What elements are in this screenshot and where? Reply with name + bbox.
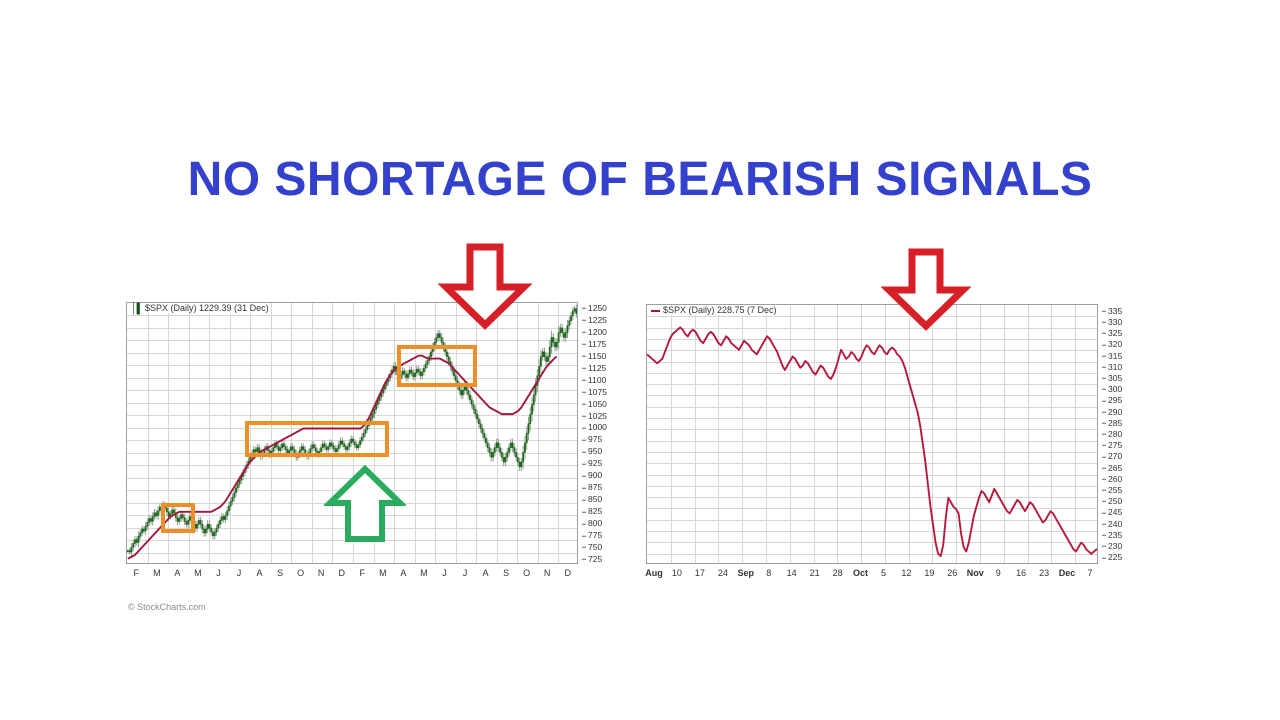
x-tick-label: 19 (924, 568, 934, 578)
y-tick-label: 975 (582, 435, 602, 444)
y-tick-label: 950 (582, 447, 602, 456)
x-tick-label: 10 (672, 568, 682, 578)
y-tick-mark (582, 416, 586, 417)
y-tick-mark (582, 451, 586, 452)
y-tick-mark (582, 404, 586, 405)
y-tick-label: 325 (1102, 329, 1122, 338)
y-tick-mark (1102, 389, 1106, 390)
x-tick-label: 12 (901, 568, 911, 578)
left-chart-header: │▌$SPX (Daily) 1229.39 (31 Dec) (129, 303, 271, 313)
right-chart-plot-area (646, 304, 1098, 564)
y-tick-mark (582, 308, 586, 309)
x-tick-label: O (297, 568, 304, 578)
y-tick-mark (582, 487, 586, 488)
y-tick-label: 250 (1102, 497, 1122, 506)
y-tick-label: 850 (582, 495, 602, 504)
x-tick-label: 7 (1087, 568, 1092, 578)
line-series-glyph-icon (651, 310, 660, 312)
y-tick-mark (582, 427, 586, 428)
x-tick-label: F (134, 568, 140, 578)
x-tick-label: S (277, 568, 283, 578)
y-tick-label: 335 (1102, 306, 1122, 315)
y-tick-mark (1102, 490, 1106, 491)
y-tick-label: 310 (1102, 363, 1122, 372)
x-tick-label: M (420, 568, 428, 578)
y-tick-label: 825 (582, 507, 602, 516)
x-tick-label: J (463, 568, 468, 578)
y-tick-label: 1200 (582, 327, 607, 336)
left-chart-header-text: $SPX (Daily) 1229.39 (31 Dec) (145, 303, 269, 313)
y-tick-label: 1175 (582, 339, 606, 348)
y-tick-mark (582, 511, 586, 512)
y-tick-mark (1102, 535, 1106, 536)
y-tick-mark (582, 392, 586, 393)
x-tick-label: Sep (738, 568, 755, 578)
x-tick-label: F (360, 568, 366, 578)
x-tick-label: M (153, 568, 161, 578)
y-tick-mark (1102, 322, 1106, 323)
y-tick-label: 800 (582, 519, 602, 528)
y-tick-label: 280 (1102, 430, 1122, 439)
arrow-down-icon (437, 243, 533, 331)
y-tick-mark (582, 332, 586, 333)
y-tick-label: 1125 (582, 363, 606, 372)
x-tick-label: S (503, 568, 509, 578)
y-tick-label: 305 (1102, 374, 1122, 383)
red-down-arrow-right (881, 248, 971, 332)
x-tick-label: A (483, 568, 489, 578)
y-tick-label: 330 (1102, 318, 1122, 327)
y-tick-mark (582, 439, 586, 440)
x-tick-label: 16 (1016, 568, 1026, 578)
y-tick-label: 240 (1102, 519, 1122, 528)
left-chart-y-axis: 1250122512001175115011251100107510501025… (582, 302, 626, 564)
y-tick-mark (1102, 423, 1106, 424)
x-tick-label: N (318, 568, 325, 578)
x-tick-label: Oct (853, 568, 868, 578)
x-tick-label: 23 (1039, 568, 1049, 578)
y-tick-label: 875 (582, 483, 602, 492)
x-tick-label: Nov (967, 568, 984, 578)
x-tick-label: 26 (947, 568, 957, 578)
x-tick-label: 5 (881, 568, 886, 578)
right-chart-header-text: $SPX (Daily) 228.75 (7 Dec) (663, 305, 777, 315)
y-tick-mark (1102, 412, 1106, 413)
x-tick-label: 24 (718, 568, 728, 578)
x-tick-label: 17 (695, 568, 705, 578)
arrow-up-icon (324, 465, 406, 543)
y-tick-label: 1000 (582, 423, 607, 432)
y-tick-label: 315 (1102, 351, 1122, 360)
y-tick-mark (1102, 456, 1106, 457)
x-tick-label: A (174, 568, 180, 578)
y-tick-mark (1102, 501, 1106, 502)
y-tick-label: 275 (1102, 441, 1122, 450)
y-tick-mark (1102, 344, 1106, 345)
y-tick-mark (1102, 311, 1106, 312)
y-tick-mark (1102, 524, 1106, 525)
x-tick-label: 28 (833, 568, 843, 578)
x-tick-label: Dec (1059, 568, 1076, 578)
y-tick-mark (582, 547, 586, 548)
y-tick-label: 245 (1102, 508, 1122, 517)
y-tick-label: 235 (1102, 531, 1122, 540)
y-tick-mark (582, 380, 586, 381)
left-chart-x-axis: FMAMJJASONDFMAMJJASOND (126, 568, 578, 584)
page-title: NO SHORTAGE OF BEARISH SIGNALS (0, 152, 1280, 207)
x-tick-label: 21 (810, 568, 820, 578)
y-tick-label: 750 (582, 543, 602, 552)
x-tick-label: J (442, 568, 447, 578)
y-tick-label: 265 (1102, 463, 1122, 472)
y-tick-label: 775 (582, 531, 602, 540)
x-tick-label: M (194, 568, 202, 578)
x-tick-label: M (379, 568, 387, 578)
x-tick-label: A (400, 568, 406, 578)
y-tick-mark (1102, 512, 1106, 513)
y-tick-mark (1102, 557, 1106, 558)
right-chart-panel: $SPX (Daily) 228.75 (7 Dec) 335330325320… (640, 296, 1140, 596)
y-tick-label: 285 (1102, 419, 1122, 428)
y-tick-mark (1102, 378, 1106, 379)
y-tick-label: 900 (582, 471, 602, 480)
x-tick-label: A (257, 568, 263, 578)
y-tick-label: 295 (1102, 396, 1122, 405)
stockcharts-watermark: © StockCharts.com (128, 602, 206, 612)
y-tick-mark (1102, 400, 1106, 401)
y-tick-label: 270 (1102, 452, 1122, 461)
arrow-down-icon (881, 248, 971, 332)
y-tick-mark (582, 475, 586, 476)
slide-root: NO SHORTAGE OF BEARISH SIGNALS │▌$SPX (D… (0, 0, 1280, 720)
y-tick-mark (582, 344, 586, 345)
right-chart-svg (647, 305, 1098, 564)
y-tick-label: 1025 (582, 411, 607, 420)
y-tick-label: 725 (582, 555, 602, 564)
y-tick-label: 1150 (582, 351, 606, 360)
x-tick-label: Aug (645, 568, 663, 578)
y-tick-label: 260 (1102, 475, 1122, 484)
y-tick-label: 230 (1102, 542, 1122, 551)
red-down-arrow-left (437, 243, 533, 331)
y-tick-mark (1102, 468, 1106, 469)
right-chart-x-axis: Aug101724Sep8142128Oct5121926Nov91623Dec… (646, 568, 1098, 584)
y-tick-mark (1102, 546, 1106, 547)
x-tick-label: 8 (766, 568, 771, 578)
y-tick-label: 290 (1102, 407, 1122, 416)
x-tick-label: J (237, 568, 242, 578)
y-tick-mark (1102, 434, 1106, 435)
left-chart-panel: │▌$SPX (Daily) 1229.39 (31 Dec) 12501225… (120, 296, 590, 616)
x-tick-label: D (338, 568, 345, 578)
right-chart-y-axis: 3353303253203153103053002952902852802752… (1102, 304, 1146, 564)
x-tick-label: N (544, 568, 551, 578)
x-tick-label: 9 (996, 568, 1001, 578)
y-tick-mark (1102, 356, 1106, 357)
y-tick-label: 320 (1102, 340, 1122, 349)
x-tick-label: 14 (787, 568, 797, 578)
y-tick-label: 225 (1102, 553, 1122, 562)
y-tick-label: 1250 (582, 303, 607, 312)
y-tick-mark (582, 535, 586, 536)
y-tick-label: 1075 (582, 387, 607, 396)
y-tick-mark (582, 368, 586, 369)
y-tick-mark (582, 499, 586, 500)
y-tick-mark (582, 523, 586, 524)
y-tick-mark (582, 559, 586, 560)
y-tick-mark (582, 356, 586, 357)
y-tick-mark (582, 320, 586, 321)
x-tick-label: D (564, 568, 571, 578)
y-tick-mark (1102, 445, 1106, 446)
x-tick-label: J (216, 568, 221, 578)
candlestick-glyph-icon: │▌ (131, 303, 143, 314)
y-tick-mark (1102, 479, 1106, 480)
right-chart-header: $SPX (Daily) 228.75 (7 Dec) (649, 305, 779, 315)
y-tick-label: 255 (1102, 486, 1122, 495)
y-tick-label: 925 (582, 459, 602, 468)
x-tick-label: O (523, 568, 530, 578)
y-tick-mark (1102, 367, 1106, 368)
green-up-arrow (324, 465, 406, 543)
y-tick-label: 1100 (582, 375, 606, 384)
y-tick-label: 300 (1102, 385, 1122, 394)
y-tick-mark (1102, 333, 1106, 334)
y-tick-mark (582, 463, 586, 464)
y-tick-label: 1225 (582, 315, 607, 324)
y-tick-label: 1050 (582, 399, 607, 408)
